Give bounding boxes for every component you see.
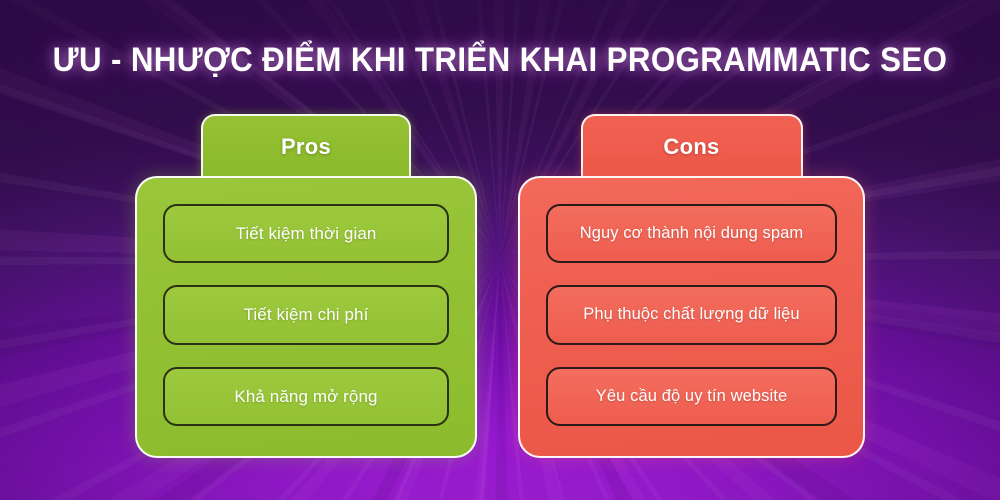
pros-item-2[interactable]: Tiết kiệm chi phí (163, 285, 449, 344)
infographic-stage: ƯU - NHƯỢC ĐIỂM KHI TRIỂN KHAI PROGRAMMA… (0, 0, 1000, 500)
cons-item-1[interactable]: Nguy cơ thành nội dung spam (546, 204, 837, 263)
pros-header-tab[interactable]: Pros (201, 114, 411, 178)
cons-item-3[interactable]: Yêu cầu độ uy tín website (546, 367, 837, 426)
cons-item-2-label: Phụ thuộc chất lượng dữ liệu (575, 304, 807, 325)
cons-item-2[interactable]: Phụ thuộc chất lượng dữ liệu (546, 285, 837, 344)
pros-item-1[interactable]: Tiết kiệm thời gian (163, 204, 449, 263)
cons-column: Cons Nguy cơ thành nội dung spam Phụ thu… (518, 114, 865, 458)
pros-item-1-label: Tiết kiệm thời gian (228, 223, 385, 244)
cons-item-1-label: Nguy cơ thành nội dung spam (572, 223, 812, 244)
cons-header-tab[interactable]: Cons (581, 114, 803, 178)
pros-panel: Tiết kiệm thời gian Tiết kiệm chi phí Kh… (135, 176, 477, 458)
pros-item-2-label: Tiết kiệm chi phí (236, 304, 377, 325)
cons-header-label: Cons (663, 134, 719, 160)
pros-item-3[interactable]: Khả năng mở rộng (163, 367, 449, 426)
pros-item-3-label: Khả năng mở rộng (226, 386, 385, 407)
cons-item-3-label: Yêu cầu độ uy tín website (588, 386, 795, 407)
cons-panel: Nguy cơ thành nội dung spam Phụ thuộc ch… (518, 176, 865, 458)
pros-column: Pros Tiết kiệm thời gian Tiết kiệm chi p… (135, 114, 477, 458)
pros-header-label: Pros (281, 134, 331, 160)
page-title: ƯU - NHƯỢC ĐIỂM KHI TRIỂN KHAI PROGRAMMA… (40, 40, 960, 80)
